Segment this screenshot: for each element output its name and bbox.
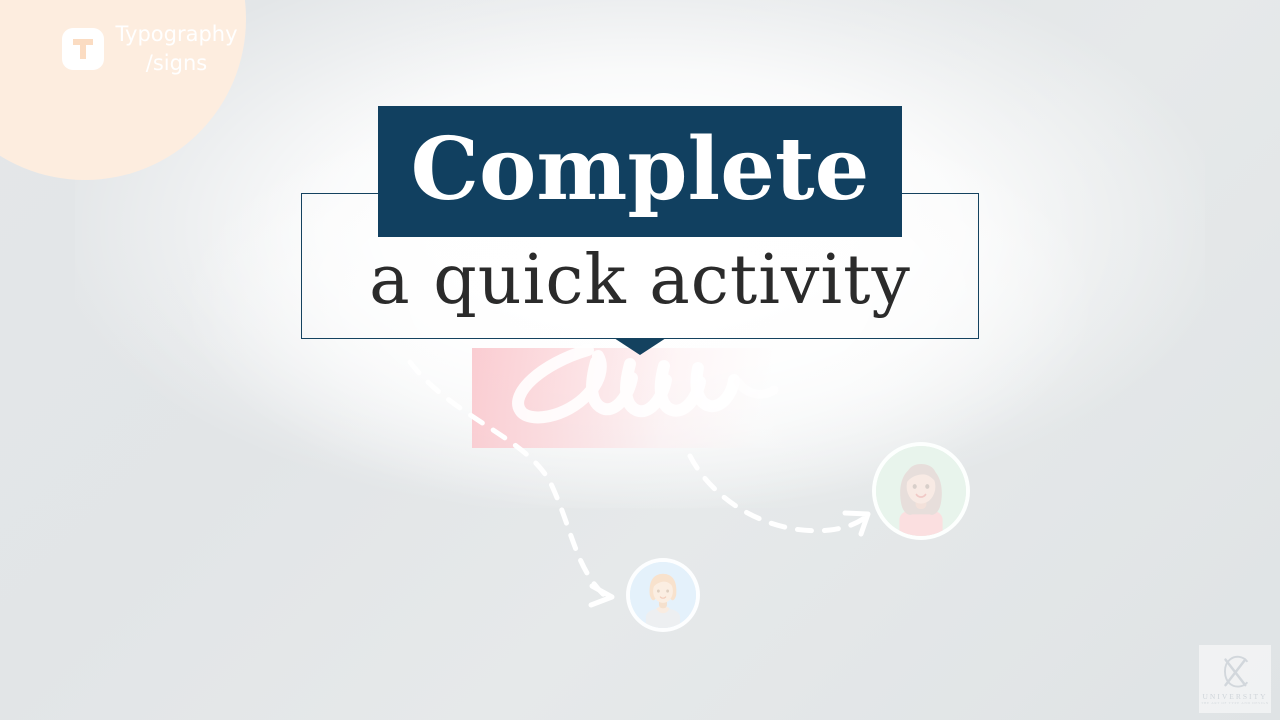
logo-wordmark: UNIVERSITY bbox=[1203, 693, 1268, 701]
corner-badge-content[interactable]: Typography /signs bbox=[62, 20, 247, 77]
subtitle-text: a quick activity bbox=[301, 232, 979, 328]
typography-t-glyph bbox=[73, 39, 93, 59]
title-highlight-box: Complete bbox=[378, 106, 902, 237]
page-title: Complete bbox=[411, 127, 870, 213]
xc-monogram-icon bbox=[1213, 653, 1257, 691]
corner-badge-label: Typography /signs bbox=[114, 20, 239, 77]
avatar-woman bbox=[872, 442, 970, 540]
t-stem bbox=[80, 39, 86, 59]
typography-t-icon bbox=[62, 28, 104, 70]
corner-badge-line2: /signs bbox=[114, 49, 239, 78]
avatar-woman-illustration bbox=[876, 446, 966, 536]
avatar-person-illustration bbox=[630, 562, 696, 628]
university-logo: UNIVERSITY THE ART OF TYPE AND DESIGN bbox=[1199, 645, 1271, 713]
slide-canvas: a quick activity Complete Typography /si… bbox=[0, 0, 1280, 720]
corner-badge-line1: Typography bbox=[114, 20, 239, 49]
avatar-person bbox=[626, 558, 700, 632]
logo-subword: THE ART OF TYPE AND DESIGN bbox=[1201, 702, 1269, 705]
down-triangle-pointer bbox=[614, 338, 666, 355]
